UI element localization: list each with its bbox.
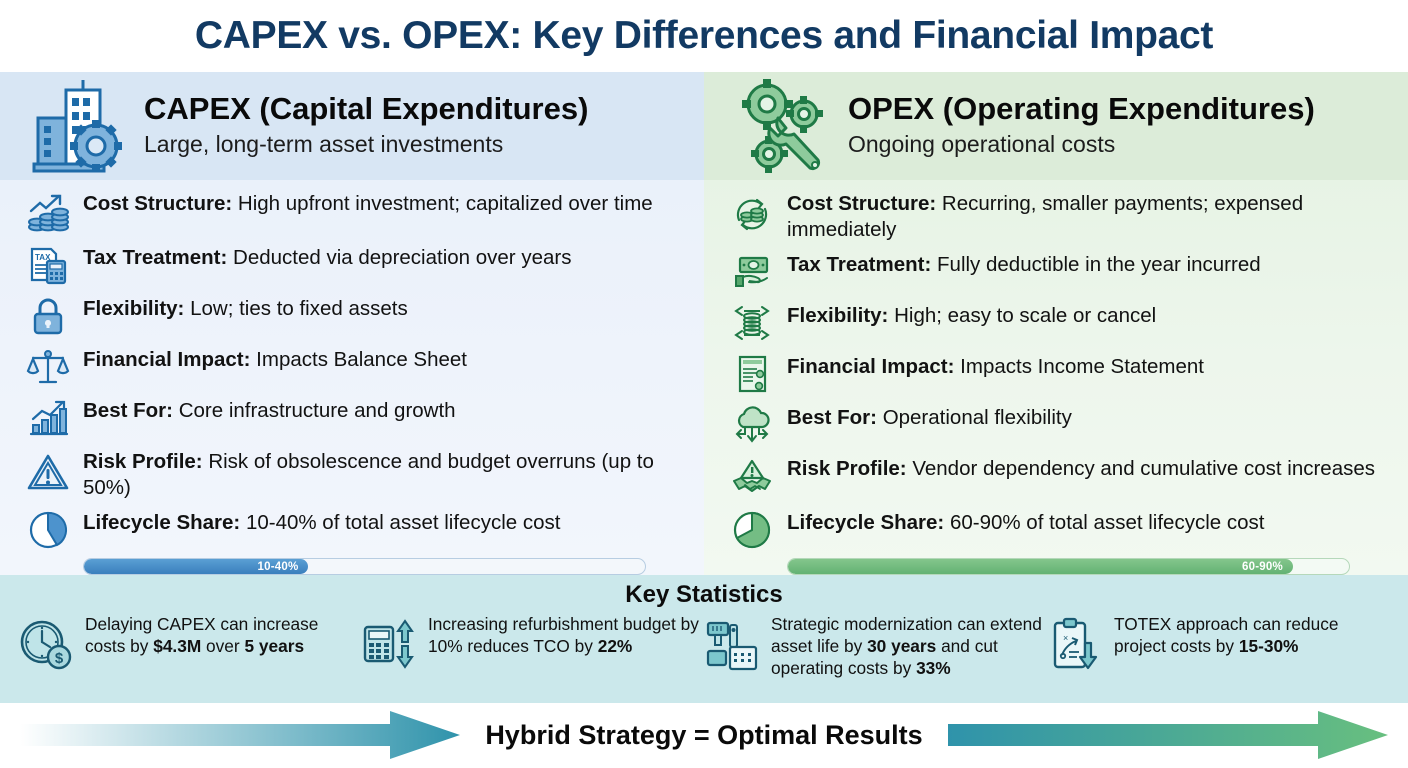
gear-overlay (70, 120, 122, 172)
feature-risk-profile: Risk Profile: Risk of obsolescence and b… (26, 446, 688, 501)
feature-label: Tax Treatment: (83, 246, 227, 269)
feature-label: Financial Impact: (787, 355, 954, 378)
feature-value: High; easy to scale or cancel (894, 304, 1156, 327)
feature-text: Tax Treatment: Deducted via depreciation… (83, 242, 571, 271)
opex-features: Cost Structure: Recurring, smaller payme… (704, 180, 1408, 575)
stat-part: TOTEX approach can reduce project costs … (1114, 614, 1338, 656)
feature-text: Flexibility: High; easy to scale or canc… (787, 300, 1156, 329)
footer-label: Hybrid Strategy = Optimal Results (0, 703, 1408, 768)
feature-label: Cost Structure: (83, 192, 232, 215)
feature-best-for: Best For: Core infrastructure and growth (26, 395, 688, 440)
opex-title: OPEX (Operating Expenditures) (848, 92, 1315, 127)
feature-text: Best For: Operational flexibility (787, 402, 1072, 431)
padlock-icon (26, 294, 70, 338)
feature-tax-treatment: TAX Tax Treatment: Deducted via deprecia… (26, 242, 688, 287)
recurring-coins-icon (730, 192, 774, 236)
key-statistics-heading: Key Statistics (0, 581, 1408, 609)
feature-lifecycle-share: Lifecycle Share: 60-90% of total asset l… (730, 507, 1392, 552)
invoice-document-icon (730, 352, 774, 396)
feature-text: Financial Impact: Impacts Income Stateme… (787, 351, 1204, 380)
spring-flexibility-icon (730, 301, 774, 345)
stat-item: Strategic modernization can extend asset… (704, 614, 1047, 679)
opex-header: OPEX (Operating Expenditures) Ongoing op… (704, 72, 1408, 180)
stat-highlight: 15-30% (1239, 636, 1299, 656)
opex-progress: 60-90% (787, 558, 1350, 575)
feature-flexibility: Flexibility: High; easy to scale or canc… (730, 300, 1392, 345)
stat-item: $ Delaying CAPEX can increase costs by $… (18, 614, 361, 679)
feature-lifecycle-share: Lifecycle Share: 10-40% of total asset l… (26, 507, 688, 552)
cloud-scaling-icon (730, 403, 774, 447)
stat-highlight: 30 years (867, 636, 936, 656)
progress-label: 10-40% (258, 561, 299, 573)
building-gear-icon (30, 74, 126, 178)
title-bar: CAPEX vs. OPEX: Key Differences and Fina… (0, 0, 1408, 72)
feature-text: Cost Structure: Recurring, smaller payme… (787, 188, 1392, 243)
calculator-arrows-icon (361, 615, 417, 673)
clipboard-down-arrow-icon: × (1047, 615, 1103, 673)
feature-cost-structure: Cost Structure: Recurring, smaller payme… (730, 188, 1392, 243)
progress-label: 60-90% (1242, 561, 1283, 573)
feature-value: Core infrastructure and growth (179, 399, 456, 422)
stat-text: TOTEX approach can reduce project costs … (1114, 614, 1390, 658)
feature-value: Vendor dependency and cumulative cost in… (912, 457, 1375, 480)
feature-label: Best For: (83, 399, 173, 422)
feature-text: Risk Profile: Risk of obsolescence and b… (83, 446, 688, 501)
cash-in-hand-icon (730, 250, 774, 294)
feature-text: Cost Structure: High upfront investment;… (83, 188, 653, 217)
capex-subtitle: Large, long-term asset investments (144, 130, 588, 160)
stat-highlight: 5 years (244, 636, 304, 656)
gears-wrench-icon (734, 74, 830, 178)
feature-text: Flexibility: Low; ties to fixed assets (83, 293, 408, 322)
feature-label: Best For: (787, 406, 877, 429)
statistics-row: $ Delaying CAPEX can increase costs by $… (0, 614, 1408, 679)
pie-chart-icon (26, 508, 70, 552)
feature-label: Cost Structure: (787, 192, 936, 215)
feature-value: High upfront investment; capitalized ove… (238, 192, 653, 215)
feature-label: Risk Profile: (83, 450, 203, 473)
machine-calendar-icon (704, 615, 760, 673)
key-statistics-section: Key Statistics $ Delaying CAPEX can incr… (0, 575, 1408, 703)
feature-text: Financial Impact: Impacts Balance Sheet (83, 344, 467, 373)
feature-label: Lifecycle Share: (83, 511, 240, 534)
coins-growth-icon (26, 192, 70, 236)
footer-banner: Hybrid Strategy = Optimal Results (0, 703, 1408, 768)
stat-highlight: 22% (598, 636, 633, 656)
feature-label: Flexibility: (83, 297, 184, 320)
stat-item: × TOTEX approach can reduce project cost… (1047, 614, 1390, 679)
progress-fill: 10-40% (84, 559, 308, 574)
stat-part: over (201, 636, 244, 656)
comparison-columns: CAPEX (Capital Expenditures) Large, long… (0, 72, 1408, 575)
opex-column: OPEX (Operating Expenditures) Ongoing op… (704, 72, 1408, 575)
feature-value: Fully deductible in the year incurred (937, 253, 1261, 276)
pie-chart-icon (730, 508, 774, 552)
feature-value: Impacts Balance Sheet (256, 348, 467, 371)
progress-track: 60-90% (787, 558, 1350, 575)
stat-highlight: 33% (916, 658, 951, 678)
feature-value: Operational flexibility (883, 406, 1072, 429)
feature-value: 10-40% of total asset lifecycle cost (246, 511, 561, 534)
svg-text:×: × (1063, 633, 1068, 643)
clock-dollar-icon: $ (18, 615, 74, 673)
feature-text: Risk Profile: Vendor dependency and cumu… (787, 453, 1375, 482)
feature-label: Flexibility: (787, 304, 888, 327)
capex-column: CAPEX (Capital Expenditures) Large, long… (0, 72, 704, 575)
capex-progress: 10-40% (83, 558, 646, 575)
feature-value: Impacts Income Statement (960, 355, 1204, 378)
warning-triangle-icon (26, 450, 70, 494)
capex-features: Cost Structure: High upfront investment;… (0, 180, 704, 575)
infographic-page: CAPEX vs. OPEX: Key Differences and Fina… (0, 0, 1408, 768)
feature-label: Financial Impact: (83, 348, 250, 371)
page-title: CAPEX vs. OPEX: Key Differences and Fina… (195, 14, 1213, 58)
stat-text: Strategic modernization can extend asset… (771, 614, 1047, 679)
progress-fill: 60-90% (788, 559, 1293, 574)
feature-financial-impact: Financial Impact: Impacts Balance Sheet (26, 344, 688, 389)
feature-text: Lifecycle Share: 60-90% of total asset l… (787, 507, 1264, 536)
capex-title: CAPEX (Capital Expenditures) (144, 92, 588, 127)
feature-value: Deducted via depreciation over years (233, 246, 571, 269)
bar-chart-growth-icon (26, 396, 70, 440)
feature-label: Lifecycle Share: (787, 511, 944, 534)
handshake-warning-icon (730, 457, 774, 501)
stat-highlight: $4.3M (153, 636, 201, 656)
progress-track: 10-40% (83, 558, 646, 575)
capex-header: CAPEX (Capital Expenditures) Large, long… (0, 72, 704, 180)
stat-text: Increasing refurbishment budget by 10% r… (428, 614, 704, 658)
feature-risk-profile: Risk Profile: Vendor dependency and cumu… (730, 453, 1392, 501)
feature-label: Tax Treatment: (787, 253, 931, 276)
balance-scale-icon (26, 345, 70, 389)
stat-item: Increasing refurbishment budget by 10% r… (361, 614, 704, 679)
feature-text: Best For: Core infrastructure and growth (83, 395, 456, 424)
feature-text: Lifecycle Share: 10-40% of total asset l… (83, 507, 560, 536)
feature-tax-treatment: Tax Treatment: Fully deductible in the y… (730, 249, 1392, 294)
stat-part: Increasing refurbishment budget by 10% r… (428, 614, 699, 656)
stat-text: Delaying CAPEX can increase costs by $4.… (85, 614, 361, 658)
opex-subtitle: Ongoing operational costs (848, 130, 1315, 160)
feature-cost-structure: Cost Structure: High upfront investment;… (26, 188, 688, 236)
feature-best-for: Best For: Operational flexibility (730, 402, 1392, 447)
feature-financial-impact: Financial Impact: Impacts Income Stateme… (730, 351, 1392, 396)
feature-flexibility: Flexibility: Low; ties to fixed assets (26, 293, 688, 338)
feature-value: Low; ties to fixed assets (190, 297, 408, 320)
feature-text: Tax Treatment: Fully deductible in the y… (787, 249, 1261, 278)
feature-value: 60-90% of total asset lifecycle cost (950, 511, 1265, 534)
feature-label: Risk Profile: (787, 457, 907, 480)
tax-document-calculator-icon: TAX (26, 243, 70, 287)
svg-text:$: $ (55, 650, 64, 667)
